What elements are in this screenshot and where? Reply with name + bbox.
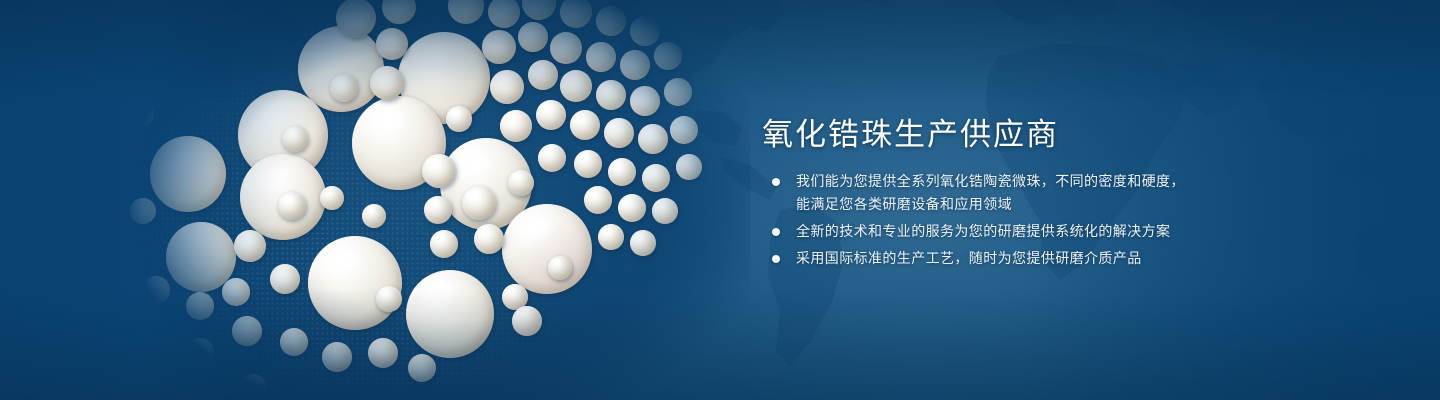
banner-text-column: 氧化锆珠生产供应商 我们能为您提供全系列氧化锆陶瓷微珠，不同的密度和硬度， 能满… [762,0,1282,400]
list-item: 采用国际标准的生产工艺，随时为您提供研磨介质产品 [764,247,1185,270]
bullet-line-1: 采用国际标准的生产工艺，随时为您提供研磨介质产品 [796,250,1142,266]
hero-banner: 氧化锆珠生产供应商 我们能为您提供全系列氧化锆陶瓷微珠，不同的密度和硬度， 能满… [0,0,1440,400]
bullet-line-1: 我们能为您提供全系列氧化锆陶瓷微珠，不同的密度和硬度， [796,173,1185,189]
banner-title: 氧化锆珠生产供应商 [762,109,1059,154]
bullet-line-1: 全新的技术和专业的服务为您的研磨提供系统化的解决方案 [796,223,1170,239]
bullet-dot-icon [772,255,780,263]
bullet-line-2: 能满足您各类研磨设备和应用领域 [796,193,1185,216]
list-item: 全新的技术和专业的服务为您的研磨提供系统化的解决方案 [764,220,1185,243]
bullet-dot-icon [772,178,780,186]
bullet-dot-icon [772,228,780,236]
banner-feature-list: 我们能为您提供全系列氧化锆陶瓷微珠，不同的密度和硬度， 能满足您各类研磨设备和应… [764,170,1185,274]
list-item: 我们能为您提供全系列氧化锆陶瓷微珠，不同的密度和硬度， 能满足您各类研磨设备和应… [764,170,1185,216]
